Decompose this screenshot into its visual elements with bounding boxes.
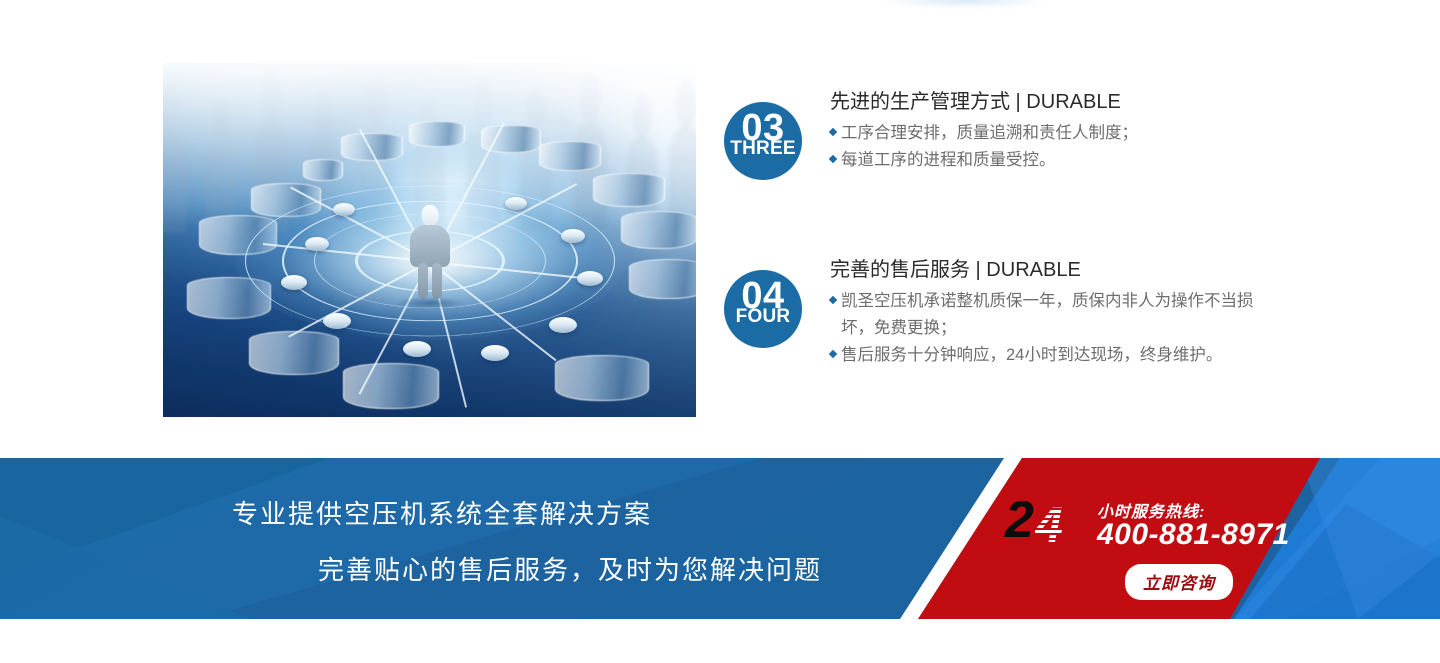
diamond-bullet-icon bbox=[829, 128, 837, 136]
hotline-digit-2: 2 bbox=[1005, 494, 1034, 546]
feature-bullet-item: 凯圣空压机承诺整机质保一年，质保内非人为操作不当损坏，免费更换； bbox=[830, 288, 1264, 342]
badge-word-text: THREE bbox=[724, 138, 802, 160]
feature-bullet-text: 工序合理安排，质量追溯和责任人制度； bbox=[841, 124, 1138, 142]
feature-bullet-item: 售后服务十分钟响应，24小时到达现场，终身维护。 bbox=[830, 342, 1264, 369]
feature-bullets-04: 凯圣空压机承诺整机质保一年，质保内非人为操作不当损坏，免费更换； 售后服务十分钟… bbox=[830, 288, 1264, 369]
feature-block-04: 04 FOUR 完善的售后服务 | DURABLE 凯圣空压机承诺整机质保一年，… bbox=[724, 256, 1264, 369]
feature-bullet-text: 售后服务十分钟响应，24小时到达现场，终身维护。 bbox=[841, 346, 1222, 364]
feature-bullet-item: 每道工序的进程和质量受控。 bbox=[830, 147, 1264, 174]
badge-number-03: 03 THREE bbox=[724, 102, 802, 180]
feature-block-03: 03 THREE 先进的生产管理方式 | DURABLE 工序合理安排，质量追溯… bbox=[724, 88, 1264, 184]
diamond-bullet-icon bbox=[829, 350, 837, 358]
promo-page: 03 THREE 先进的生产管理方式 | DURABLE 工序合理安排，质量追溯… bbox=[0, 0, 1440, 663]
24-hour-logo: 2 4 bbox=[1005, 496, 1089, 552]
diamond-bullet-icon bbox=[829, 155, 837, 163]
banner-slogan: 专业提供空压机系统全套解决方案 完善贴心的售后服务，及时为您解决问题 bbox=[232, 496, 892, 588]
hotline-phone-number[interactable]: 400-881-8971 bbox=[1097, 518, 1290, 552]
bottom-cta-banner: 专业提供空压机系统全套解决方案 完善贴心的售后服务，及时为您解决问题 2 4 小… bbox=[0, 458, 1440, 619]
feature-bullet-text: 每道工序的进程和质量受控。 bbox=[841, 151, 1056, 169]
slogan-line-2: 完善贴心的售后服务，及时为您解决问题 bbox=[232, 552, 892, 588]
slogan-line-1: 专业提供空压机系统全套解决方案 bbox=[232, 496, 892, 532]
feature-bullet-item: 工序合理安排，质量追溯和责任人制度； bbox=[830, 120, 1264, 147]
feature-bullet-text: 凯圣空压机承诺整机质保一年，质保内非人为操作不当损坏，免费更换； bbox=[841, 292, 1254, 337]
feature-bullets-03: 工序合理安排，质量追溯和责任人制度； 每道工序的进程和质量受控。 bbox=[830, 120, 1264, 174]
hotline-digit-4: 4 bbox=[1035, 500, 1063, 550]
hotline-block: 2 4 小时服务热线: 400-881-8971 立即咨询 bbox=[1005, 496, 1305, 606]
central-person-figure bbox=[409, 205, 451, 297]
feature-list: 03 THREE 先进的生产管理方式 | DURABLE 工序合理安排，质量追溯… bbox=[724, 88, 1264, 441]
diamond-bullet-icon bbox=[829, 296, 837, 304]
top-edge-smudge bbox=[880, 0, 1050, 4]
feature-title-04: 完善的售后服务 | DURABLE bbox=[830, 256, 1264, 284]
feature-title-03: 先进的生产管理方式 | DURABLE bbox=[830, 88, 1264, 116]
badge-number-04: 04 FOUR bbox=[724, 270, 802, 348]
badge-word-text: FOUR bbox=[724, 306, 802, 328]
consult-now-button[interactable]: 立即咨询 bbox=[1125, 564, 1233, 600]
people-network-connectivity-image bbox=[163, 63, 696, 417]
